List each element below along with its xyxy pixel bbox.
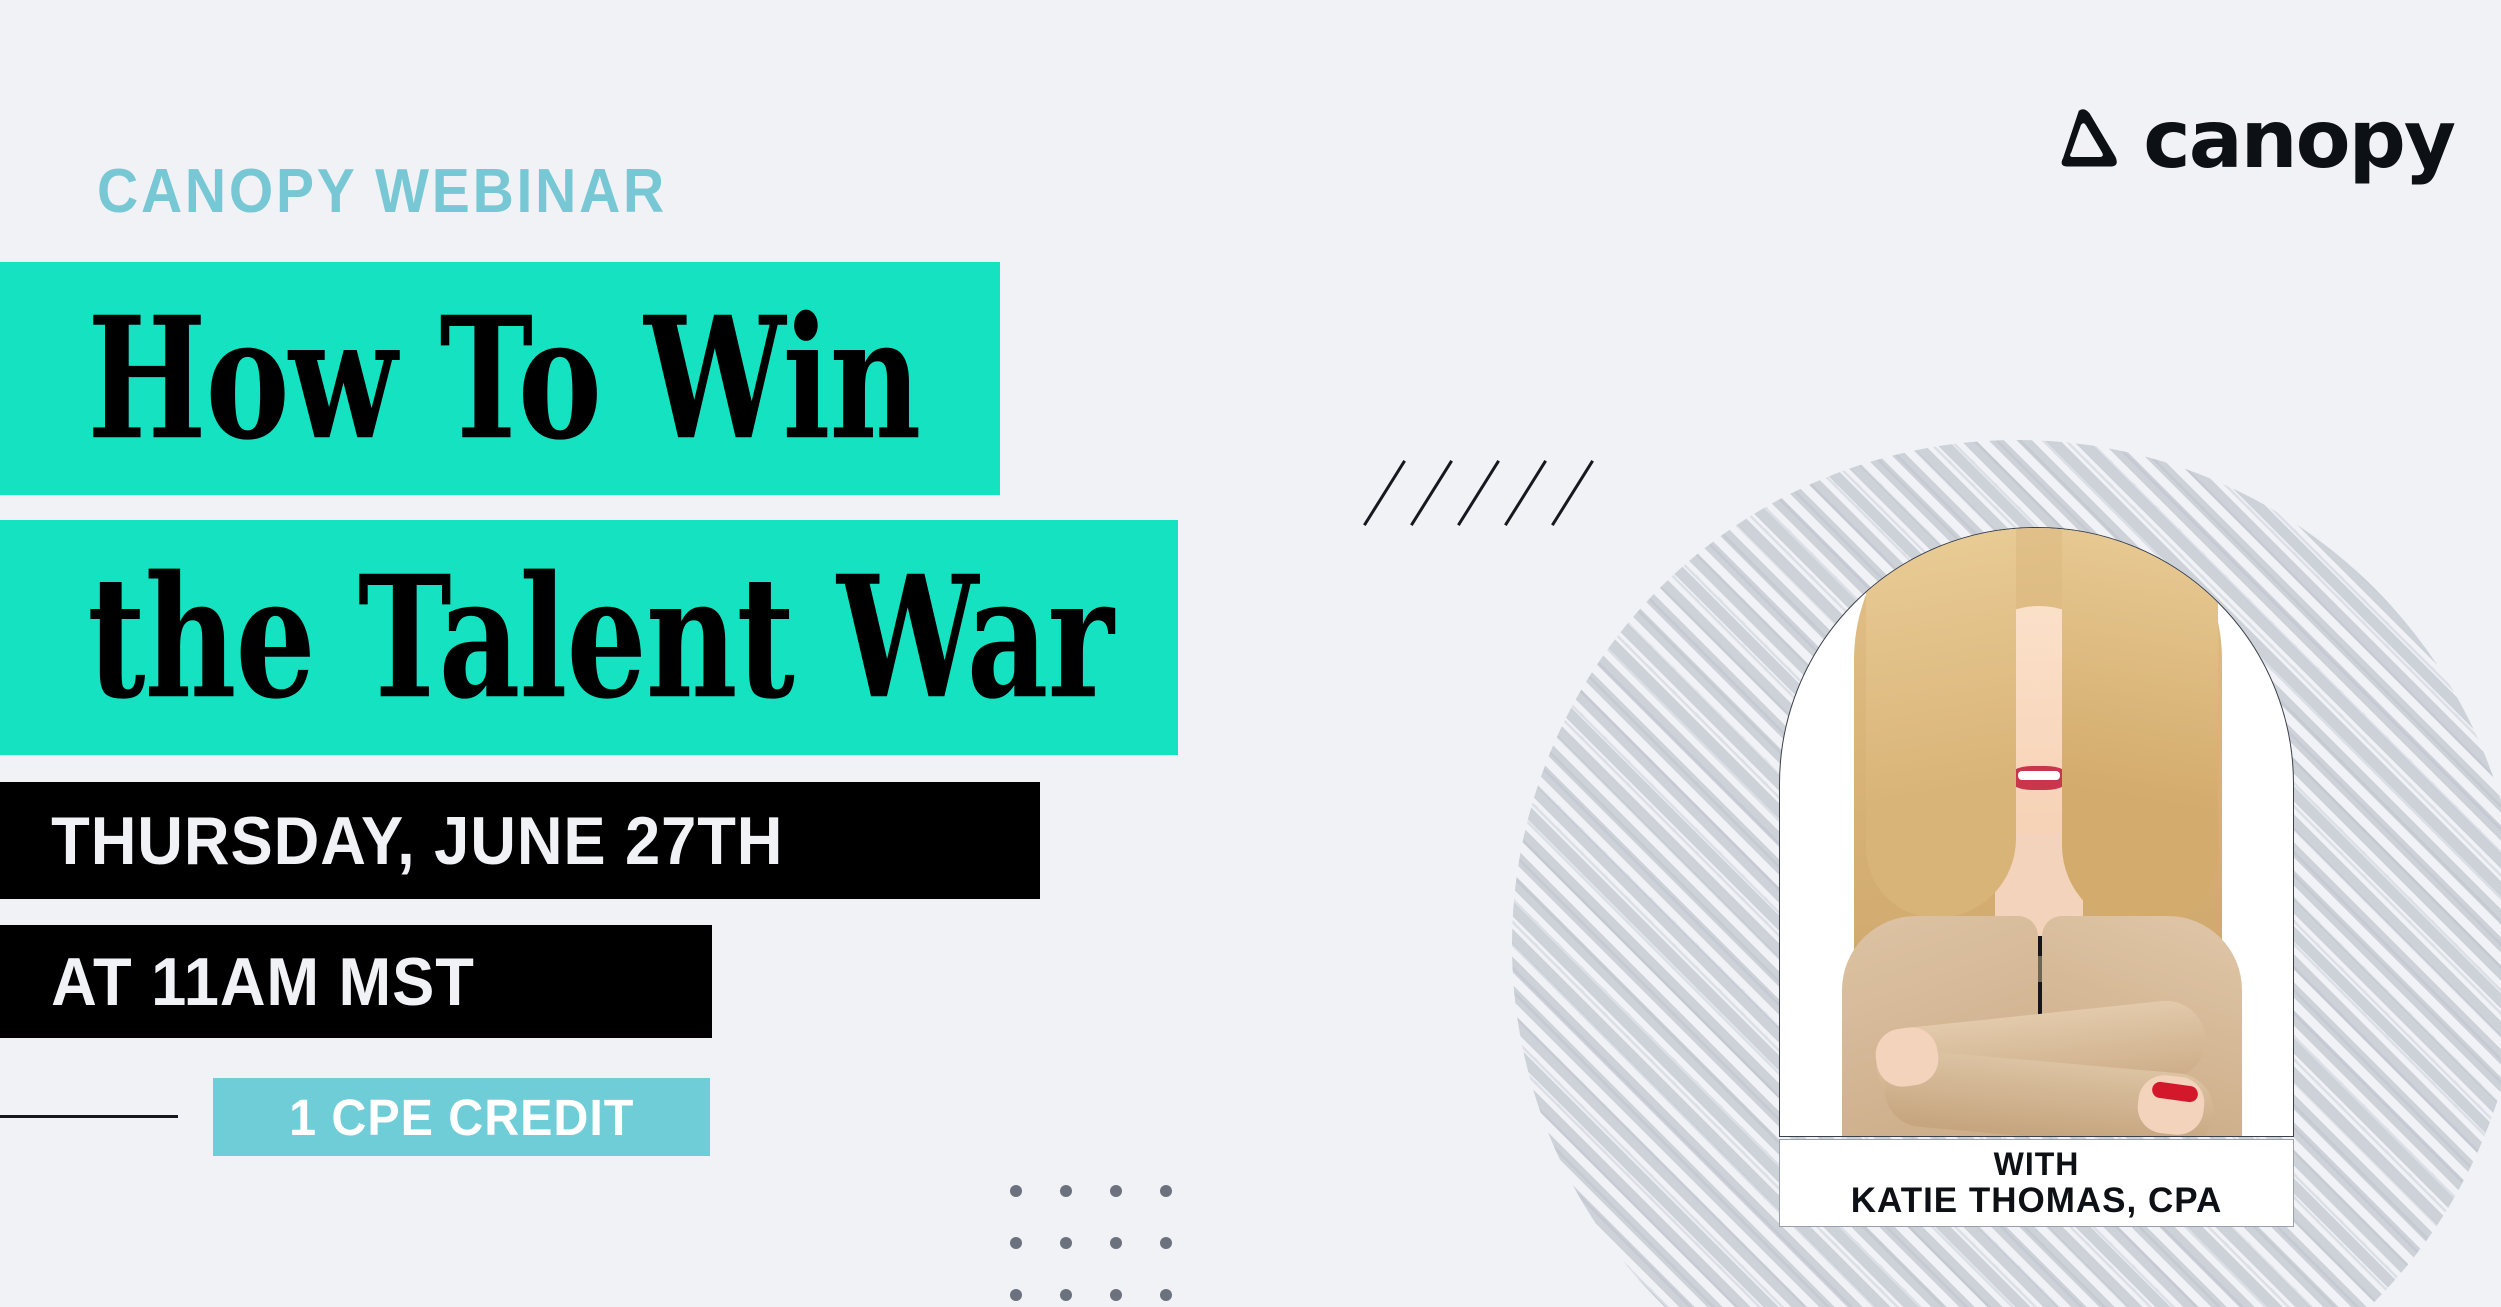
headline-line-2: the Talent War — [0, 554, 1113, 722]
canopy-logo[interactable]: canopy — [2053, 96, 2454, 180]
horizontal-rule — [0, 1115, 178, 1118]
headline-bar-line-2: the Talent War — [0, 520, 1178, 755]
poster-content-column: CANOPY WEBINAR How To Win the Talent War… — [0, 0, 1260, 1307]
cpe-credit-row: 1 CPE CREDIT — [0, 1078, 720, 1156]
speaker-name: KATIE THOMAS, CPA — [1851, 1183, 2223, 1218]
slash-icon — [1457, 460, 1500, 526]
cpe-credit-badge: 1 CPE CREDIT — [213, 1078, 710, 1156]
speaker-with-label: WITH — [1994, 1148, 2080, 1180]
time-bar: AT 11AM MST — [0, 925, 712, 1038]
headline-line-1: How To Win — [0, 295, 920, 463]
slash-icon — [1504, 460, 1547, 526]
canopy-wordmark: canopy — [2143, 100, 2454, 180]
eyebrow-label: CANOPY WEBINAR — [97, 156, 667, 227]
speaker-name-plate: WITH KATIE THOMAS, CPA — [1779, 1139, 2294, 1227]
cpe-credit-label: 1 CPE CREDIT — [289, 1088, 634, 1147]
slash-icon — [1410, 460, 1453, 526]
date-bar: THURSDAY, JUNE 27TH — [0, 782, 1040, 899]
webinar-time: AT 11AM MST — [0, 943, 475, 1021]
diagonal-slashes-decoration — [1383, 455, 1623, 535]
webinar-date: THURSDAY, JUNE 27TH — [0, 802, 783, 880]
canopy-triangle-logo-icon — [2053, 104, 2121, 172]
webinar-promo-poster: canopy CANOPY WEBINAR How To Win the Tal… — [0, 0, 2501, 1307]
speaker-headshot-image — [1780, 528, 2293, 1136]
speaker-photo-frame — [1779, 527, 2294, 1137]
headline-bar-line-1: How To Win — [0, 262, 1000, 495]
slash-icon — [1363, 460, 1406, 526]
slash-icon — [1551, 460, 1594, 526]
